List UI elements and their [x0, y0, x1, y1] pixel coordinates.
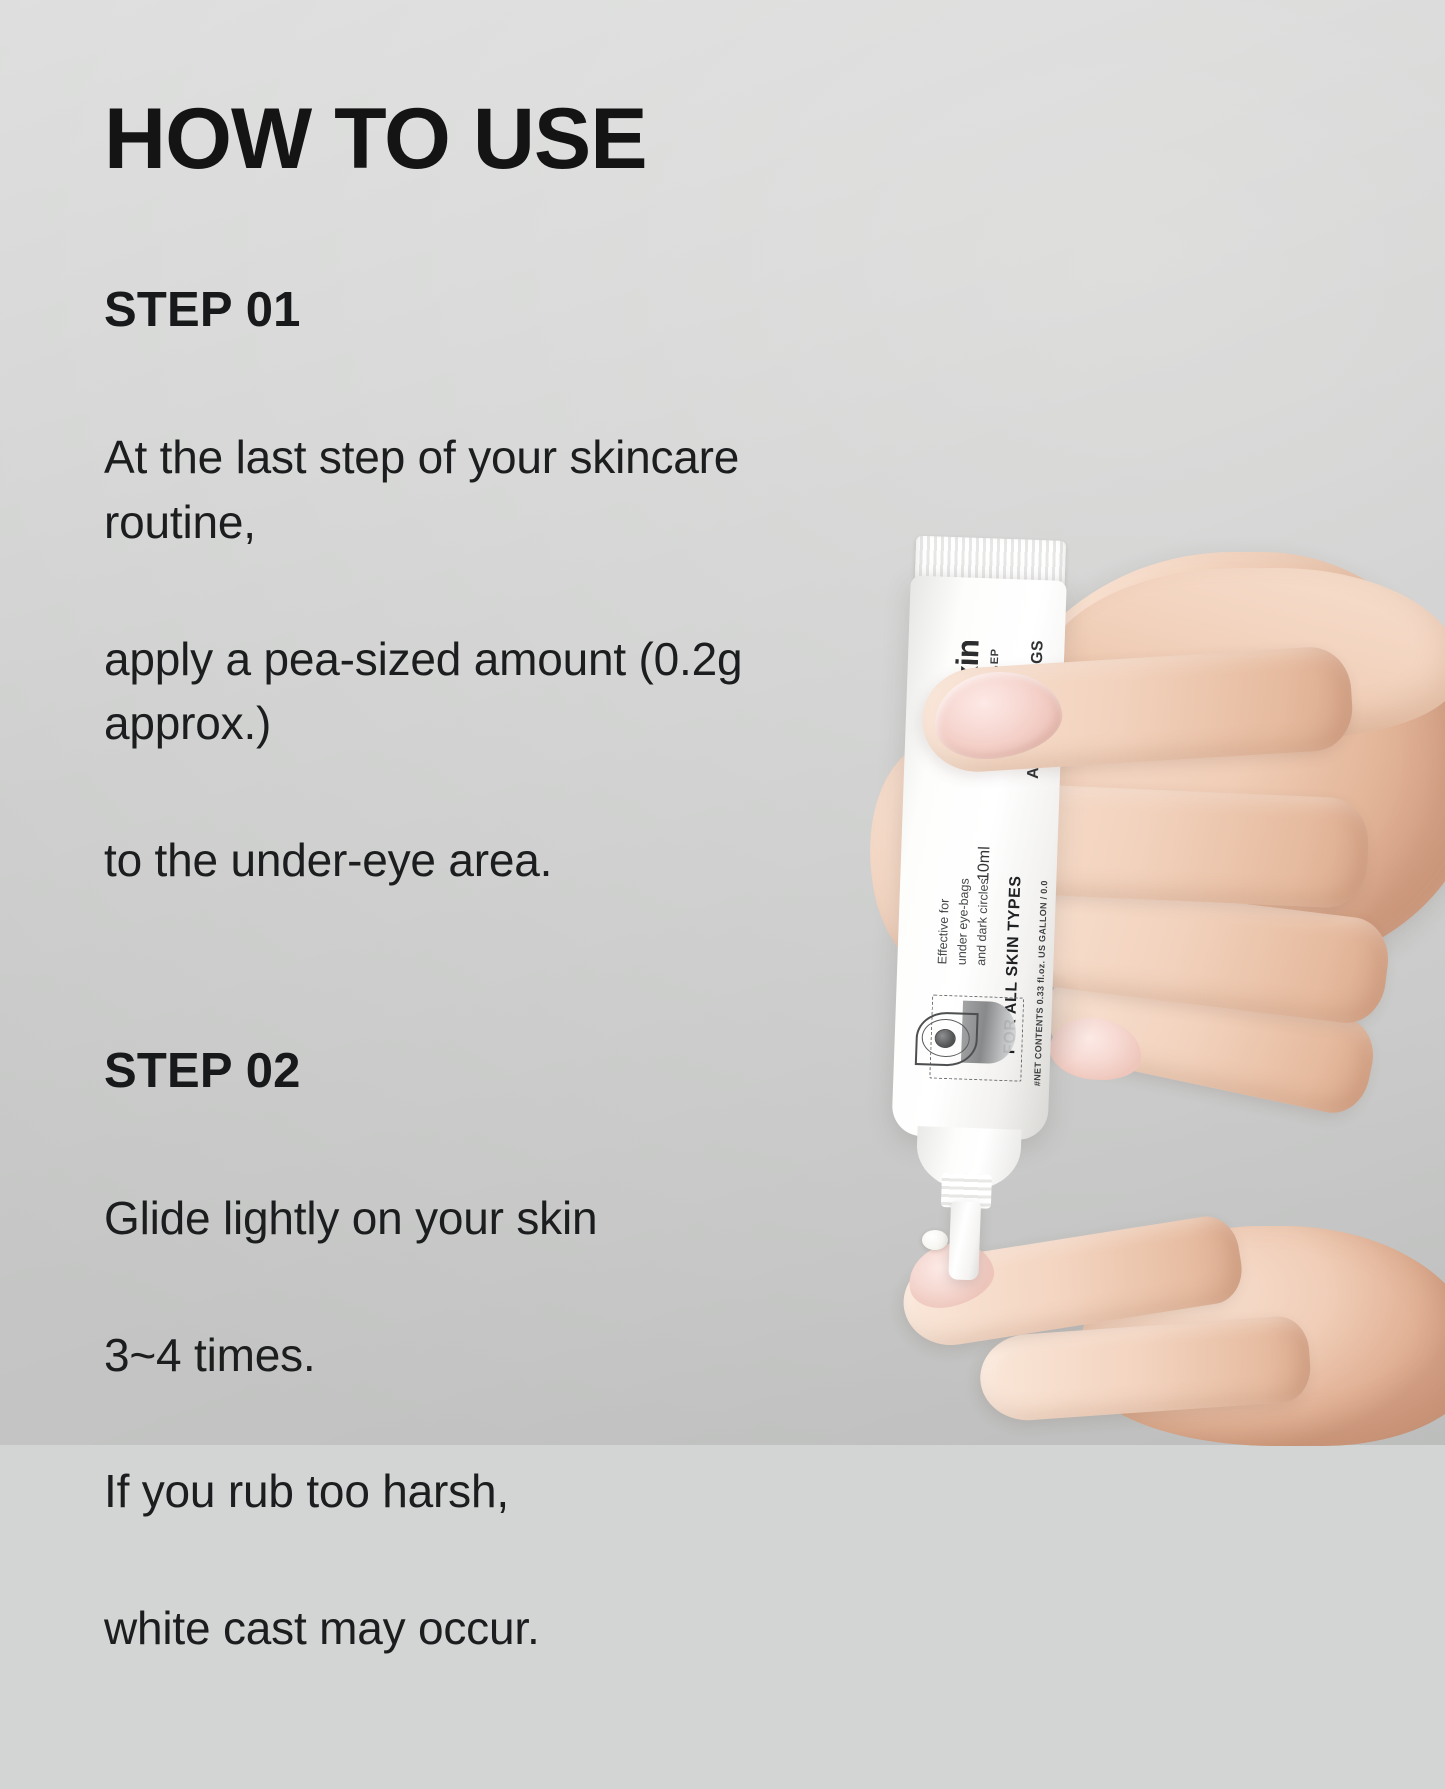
step-01-line-1: At the last step of your skincare routin… [104, 425, 884, 554]
claim-line-3: and dark circles [972, 878, 994, 966]
logo-dashed-frame [929, 995, 1024, 1082]
product-volume: 10ml [976, 846, 993, 881]
step-02-line-1: Glide lightly on your skin [104, 1186, 884, 1250]
instructions-panel: HOW TO USE STEP 01 At the last step of y… [104, 96, 884, 1789]
page-title: HOW TO USE [104, 96, 884, 182]
claim-line-2: under eye-bags [953, 877, 975, 965]
step-01-line-3: to the under-eye area. [104, 828, 884, 892]
step-01-line-2: apply a pea-sized amount (0.2g approx.) [104, 627, 884, 756]
step-02-line-4: white cast may occur. [104, 1596, 884, 1660]
eye-icon [915, 1001, 991, 1074]
step-02-body: Glide lightly on your skin 3~4 times. If… [104, 1122, 884, 1726]
product-tube: Melaxin EPHALTEP AM for EYEBAGS 10ml Eff… [880, 535, 1072, 1240]
step-01-block: STEP 01 At the last step of your skincar… [104, 286, 884, 957]
step-02-block: STEP 02 Glide lightly on your skin 3~4 t… [104, 1047, 884, 1726]
step-02-line-2: 3~4 times. [104, 1323, 884, 1387]
product-name-superscript: EP [989, 648, 1002, 664]
product-photograph: Melaxin EPHALTEP AM for EYEBAGS 10ml Eff… [830, 490, 1445, 1445]
tube-applicator-nozzle [948, 1201, 981, 1280]
step-02-line-3: If you rub too harsh, [104, 1459, 884, 1523]
step-01-body: At the last step of your skincare routin… [104, 361, 884, 957]
step-02-label: STEP 02 [104, 1047, 884, 1096]
step-01-label: STEP 01 [104, 286, 884, 335]
product-claims: Effective for under eye-bags and dark ci… [933, 877, 994, 967]
tube-body: Melaxin EPHALTEP AM for EYEBAGS 10ml Eff… [891, 576, 1066, 1141]
net-contents-label: #NET CONTENTS 0.33 fl.oz. US GALLON / 0.… [1033, 880, 1049, 1086]
